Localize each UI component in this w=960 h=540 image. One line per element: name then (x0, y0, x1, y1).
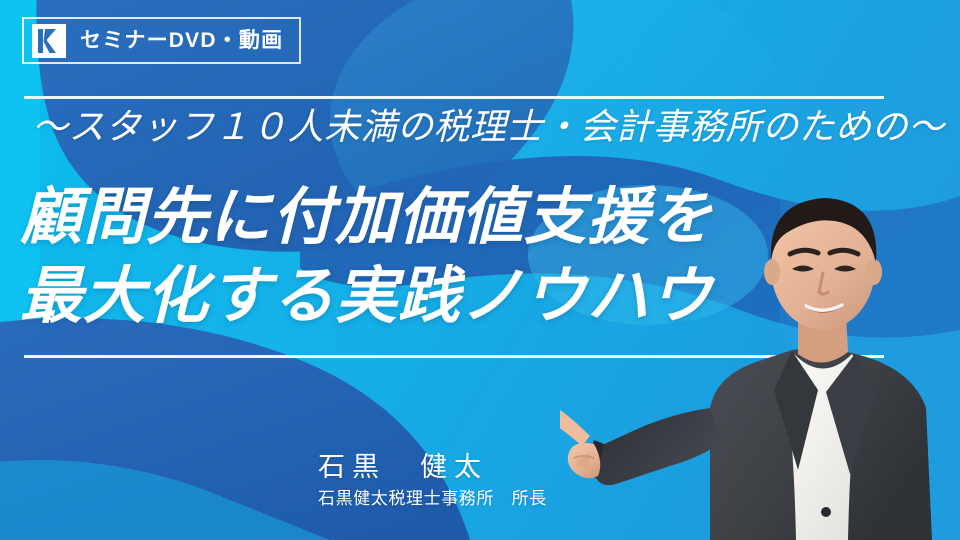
speaker-name: 石黒 健太 (318, 452, 547, 483)
headline: 顧問先に付加価値支援を 最大化する実践ノウハウ (20, 178, 713, 337)
speaker-title: 石黒健太税理士事務所 所長 (318, 488, 547, 510)
seminar-title-slide: セミナーDVD・動画 〜スタッフ１０人未満の税理士・会計事務所のための〜 顧問先… (0, 0, 960, 540)
divider-bottom (24, 355, 884, 358)
headline-line-2: 最大化する実践ノウハウ (20, 257, 713, 336)
divider-top (24, 96, 884, 99)
category-badge-label: セミナーDVD・動画 (80, 30, 283, 51)
category-badge: セミナーDVD・動画 (22, 17, 301, 64)
subtitle: 〜スタッフ１０人未満の税理士・会計事務所のための〜 (32, 104, 945, 149)
speaker-block: 石黒 健太 石黒健太税理士事務所 所長 (318, 452, 547, 510)
kaikei-k-logo-icon (32, 24, 66, 58)
headline-line-1: 顧問先に付加価値支援を (20, 178, 713, 257)
